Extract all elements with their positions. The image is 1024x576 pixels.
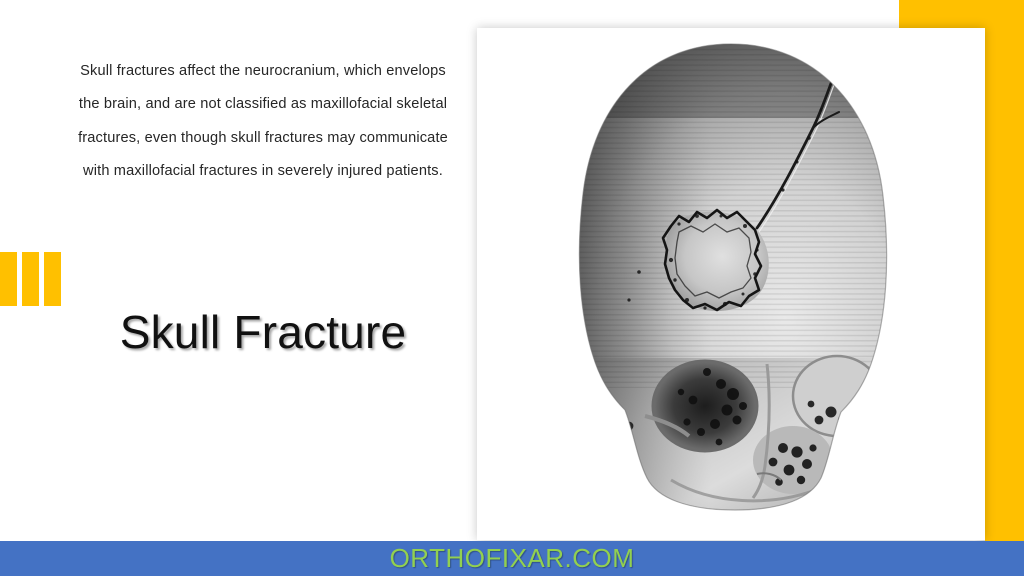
accent-right-bar <box>985 0 1024 541</box>
accent-bar-1 <box>0 252 17 306</box>
text-column: Skull fractures affect the neurocranium,… <box>72 55 454 189</box>
presentation-slide: Skull fractures affect the neurocranium,… <box>0 0 1024 576</box>
body-paragraph: Skull fractures affect the neurocranium,… <box>72 55 454 189</box>
ct-skull-image <box>521 28 941 528</box>
accent-bar-2 <box>22 252 39 306</box>
accent-bars-group <box>0 252 62 306</box>
footer-site-name: ORTHOFIXAR.COM <box>390 543 635 574</box>
footer-bar: ORTHOFIXAR.COM <box>0 541 1024 576</box>
accent-bar-3 <box>44 252 61 306</box>
page-title: Skull Fracture <box>72 307 454 359</box>
figure-panel <box>477 28 985 540</box>
